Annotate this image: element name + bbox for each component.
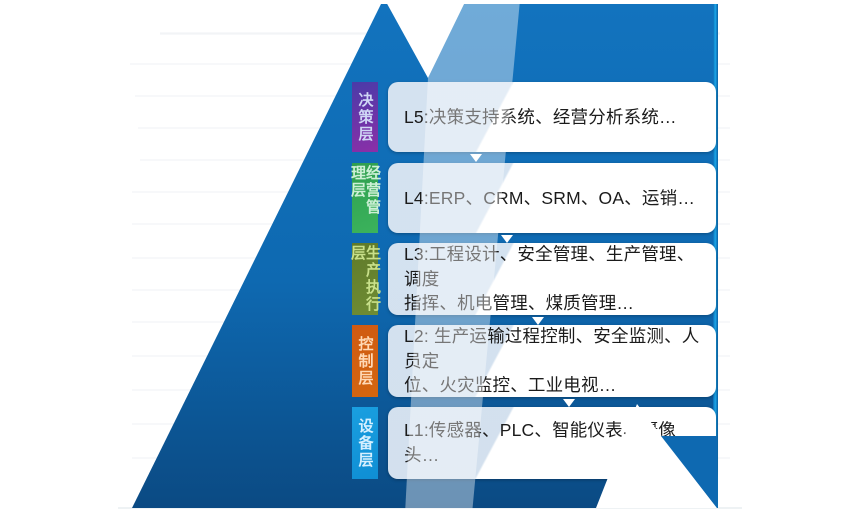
layer-card-text-l4: L4:ERP、CRM、SRM、OA、运销…: [404, 186, 695, 211]
layer-tag-l4[interactable]: 经营管理层: [352, 163, 378, 233]
layer-tag-l1[interactable]: 设备层: [352, 407, 378, 479]
layer-card-text-l5: L5:决策支持系统、经营分析系统…: [404, 105, 677, 130]
layer-card-line: L5:决策支持系统、经营分析系统…: [404, 105, 677, 130]
layer-tag-l3[interactable]: 生产执行层: [352, 243, 378, 315]
layer-gap-arrow-icon: [532, 317, 544, 325]
layer-row-l2[interactable]: 控制层L2: 生产运输过程控制、安全监测、人员定位、火灾监控、工业电视…: [352, 325, 716, 397]
layer-tag-l5[interactable]: 决策层: [352, 82, 378, 152]
layer-card-text-l1: L1:传感器、PLC、智能仪表、摄像头…: [404, 418, 700, 468]
layer-card-line: L1:传感器、PLC、智能仪表、摄像头…: [404, 418, 700, 468]
layer-row-l1[interactable]: 设备层L1:传感器、PLC、智能仪表、摄像头…: [352, 407, 716, 479]
layer-card-l2[interactable]: L2: 生产运输过程控制、安全监测、人员定位、火灾监控、工业电视…: [388, 325, 716, 397]
layer-card-line: L3:工程设计、安全管理、生产管理、调度: [404, 242, 700, 292]
layer-card-text-l2: L2: 生产运输过程控制、安全监测、人员定位、火灾监控、工业电视…: [404, 324, 700, 399]
layer-row-l5[interactable]: 决策层L5:决策支持系统、经营分析系统…: [352, 82, 716, 152]
layer-card-line: L4:ERP、CRM、SRM、OA、运销…: [404, 186, 695, 211]
layer-card-line: 位、火灾监控、工业电视…: [404, 373, 700, 398]
layer-card-l4[interactable]: L4:ERP、CRM、SRM、OA、运销…: [388, 163, 716, 233]
layer-gap-arrow-icon: [563, 399, 575, 407]
layer-card-text-l3: L3:工程设计、安全管理、生产管理、调度指挥、机电管理、煤质管理…: [404, 242, 700, 317]
layer-row-l3[interactable]: 生产执行层L3:工程设计、安全管理、生产管理、调度指挥、机电管理、煤质管理…: [352, 243, 716, 315]
layer-card-l3[interactable]: L3:工程设计、安全管理、生产管理、调度指挥、机电管理、煤质管理…: [388, 243, 716, 315]
layer-gap-arrow-icon: [501, 235, 513, 243]
layer-tag-l2[interactable]: 控制层: [352, 325, 378, 397]
layer-card-l5[interactable]: L5:决策支持系统、经营分析系统…: [388, 82, 716, 152]
diagram-canvas: 决策层L5:决策支持系统、经营分析系统…经营管理层L4:ERP、CRM、SRM、…: [0, 0, 856, 514]
layer-row-l4[interactable]: 经营管理层L4:ERP、CRM、SRM、OA、运销…: [352, 163, 716, 233]
layer-card-line: L2: 生产运输过程控制、安全监测、人员定: [404, 324, 700, 374]
layer-gap-arrow-icon: [470, 154, 482, 162]
layer-card-l1[interactable]: L1:传感器、PLC、智能仪表、摄像头…: [388, 407, 716, 479]
layer-card-line: 指挥、机电管理、煤质管理…: [404, 291, 700, 316]
